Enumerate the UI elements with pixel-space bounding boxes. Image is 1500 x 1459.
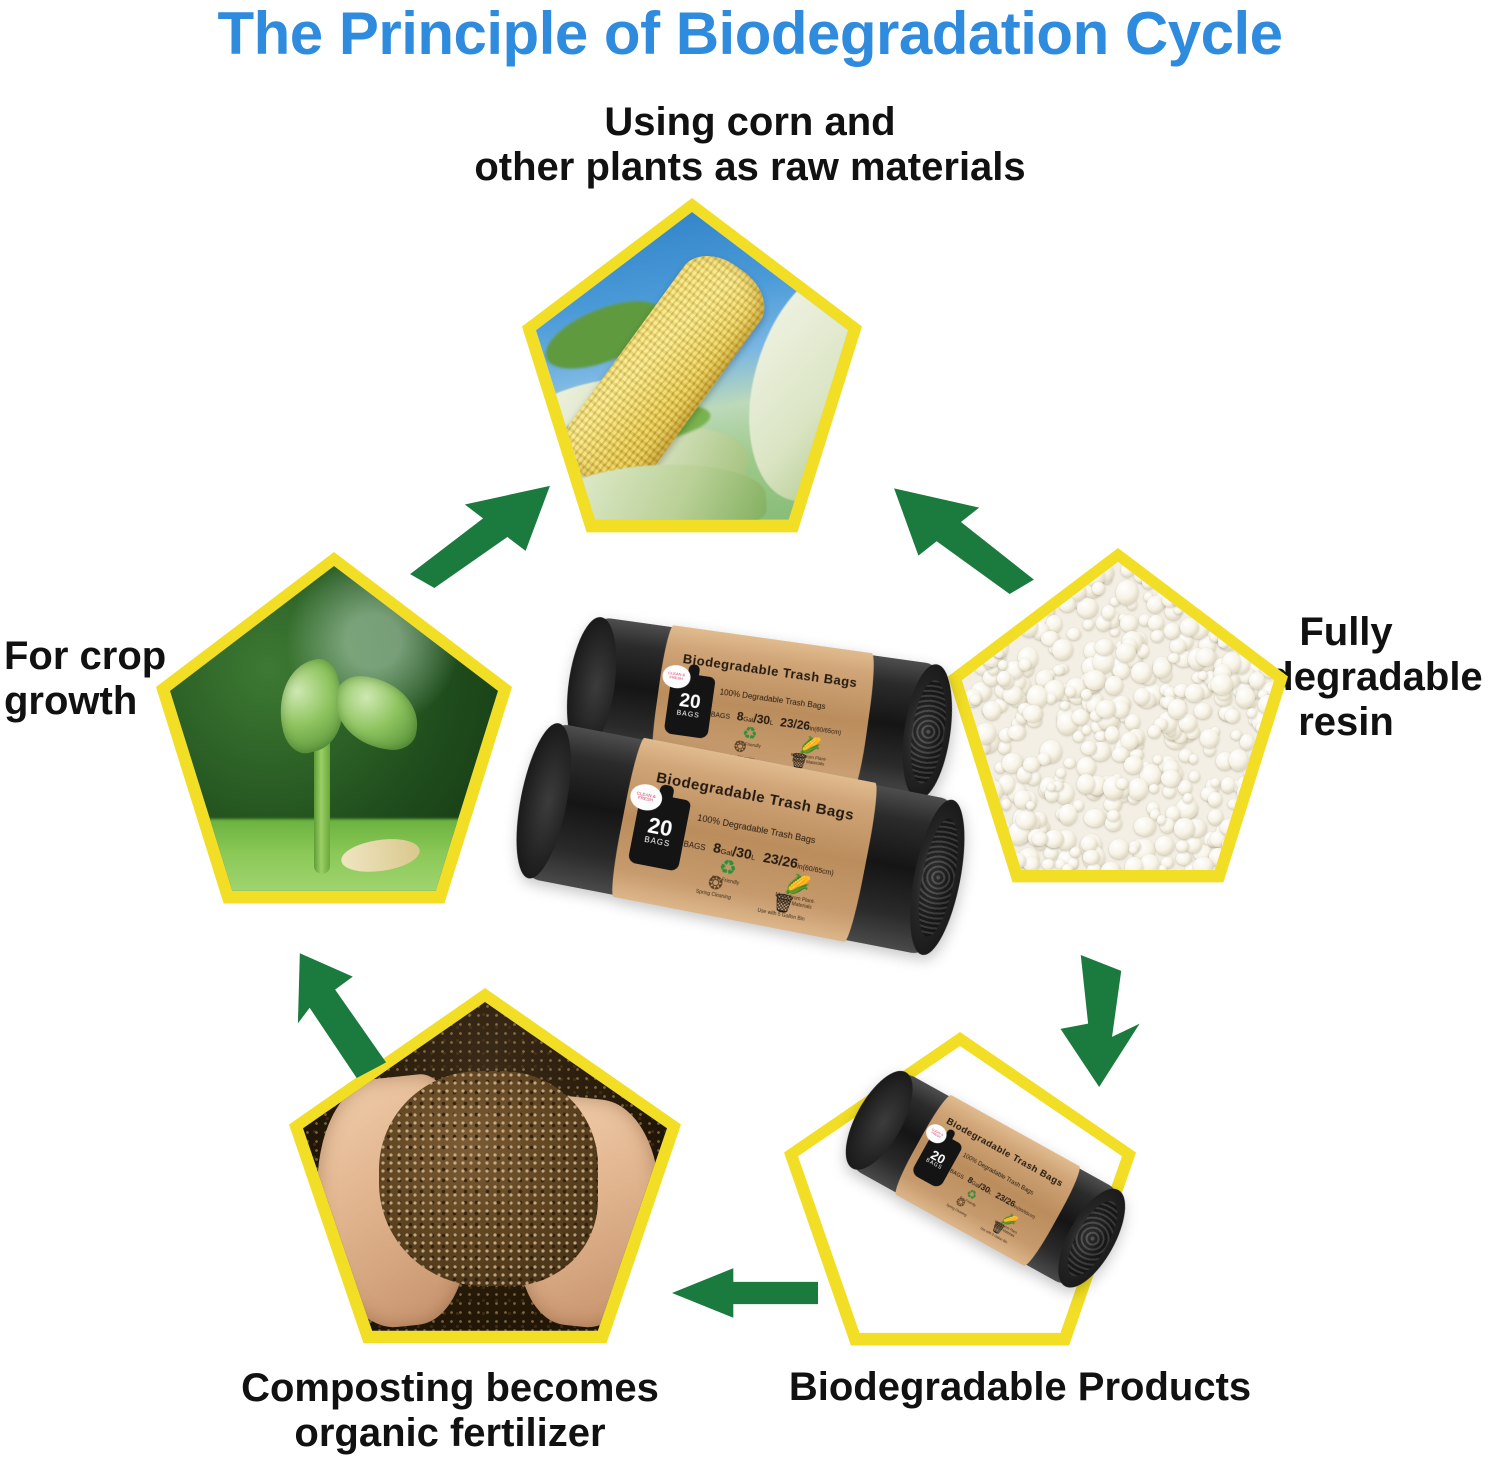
seedling-photo	[170, 566, 498, 908]
arrow-products-to-compost	[672, 1262, 818, 1324]
node-resin	[948, 548, 1288, 900]
caption-raw-materials: Using corn and other plants as raw mater…	[0, 100, 1500, 190]
label-count-unit: BAGS	[683, 839, 707, 852]
node-raw-materials	[522, 198, 862, 550]
arrow-raw-to-resin	[888, 474, 1040, 594]
arrow-crop-to-raw	[404, 472, 556, 588]
corn-photo	[536, 212, 848, 536]
caption-composting: Composting becomes organic fertilizer	[140, 1366, 760, 1456]
arrow-compost-to-crop	[292, 948, 390, 1078]
page-title: The Principle of Biodegradation Cycle	[0, 2, 1500, 67]
caption-biodegradable-products: Biodegradable Products	[740, 1365, 1300, 1410]
arrow-resin-to-products	[1055, 955, 1147, 1087]
node-crop-growth	[156, 552, 512, 922]
infographic-canvas: The Principle of Biodegradation Cycle Us…	[0, 0, 1500, 1459]
